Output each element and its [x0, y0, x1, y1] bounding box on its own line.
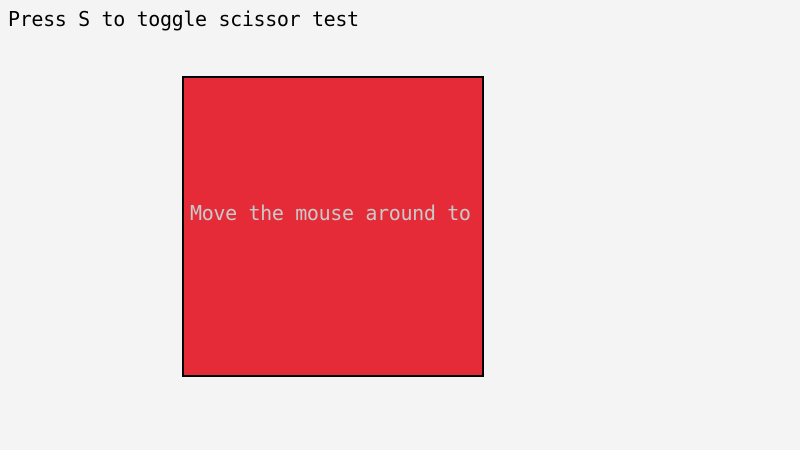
- scissor-toggle-hint-label: Press S to toggle scissor test: [8, 7, 359, 31]
- scissor-clipped-text: Move the mouse around to r: [190, 201, 484, 225]
- scissor-test-rectangle[interactable]: Move the mouse around to r: [182, 76, 484, 377]
- app-canvas: Press S to toggle scissor test Move the …: [0, 0, 800, 450]
